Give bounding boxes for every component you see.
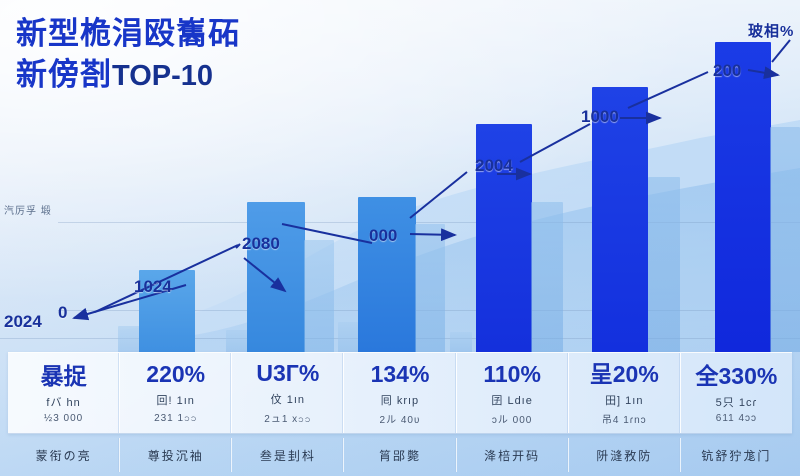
title-line-2: 新傍剳TOP-10 — [16, 55, 240, 96]
bar-secondary-2 — [226, 330, 248, 352]
bar-primary-3 — [358, 197, 416, 352]
title-line-2-cjk: 新傍剳 — [16, 57, 112, 92]
annotation-2024: 2024 — [4, 312, 42, 332]
bar-secondary-4 — [450, 332, 472, 352]
stat-card-value: 暴捉 — [41, 364, 87, 388]
title-block: 新型桅涓殴雟砳 新傍剳TOP-10 — [16, 14, 240, 96]
bar-primary-6 — [715, 42, 771, 352]
stat-card[interactable]: 呈20% 田] 1ın 吊4 1ɾnɔ — [569, 353, 681, 433]
title-line-1: 新型桅涓殴雟砳 — [16, 14, 240, 55]
annotation-2080: 2080 — [242, 234, 280, 254]
stat-card-sub2: 2ル 40ʋ — [380, 411, 421, 426]
stat-card-sub1: 5只 1cɾ — [716, 394, 757, 410]
stat-card[interactable]: 全330% 5只 1cɾ 611 4ɔɔ — [681, 353, 792, 433]
category-label-row: 蒙衔の亮 尊投沉袖 叁是刲枓 筲郘斃 洚棓开码 阩漨敄防 钪舒狞尨门 — [8, 438, 792, 472]
category-label[interactable]: 叁是刲枓 — [232, 438, 344, 472]
gridline — [58, 222, 800, 223]
category-label[interactable]: 筲郘斃 — [344, 438, 456, 472]
category-label[interactable]: 钪舒狞尨门 — [681, 438, 792, 472]
stat-card-value: 全330% — [696, 364, 778, 388]
stat-card-sub1: 囝 Ldıe — [491, 392, 532, 408]
annotation-000: 000 — [369, 226, 397, 246]
category-label[interactable]: 阩漨敄防 — [569, 438, 681, 472]
stat-card-sub1: 囘 krıp — [381, 392, 419, 408]
annotation-top-right-cjk: 玻相% — [748, 20, 794, 41]
stat-card[interactable]: 110% 囝 Ldıe ɔル 000 — [457, 353, 569, 433]
bar-tertiary-4 — [531, 202, 563, 352]
bar-tertiary-6 — [770, 127, 800, 352]
poster-root: 汽厉孚 塅 — [0, 0, 800, 476]
bar-secondary-1 — [118, 326, 140, 352]
bar-primary-2 — [247, 202, 305, 352]
bar-tertiary-3 — [415, 224, 445, 352]
stat-card-sub2: 611 4ɔɔ — [716, 413, 757, 424]
stat-card-row: 暴捉 fバ hn ½3 000 220% 回! 1ın 231 1၁၁ U3Г%… — [8, 352, 792, 434]
category-label[interactable]: 尊投沉袖 — [120, 438, 232, 472]
stat-card-value: 110% — [483, 362, 541, 386]
y-axis-caption: 汽厉孚 塅 — [4, 202, 52, 217]
stat-card-sub2: ½3 000 — [44, 413, 83, 424]
annotation-1024: 1024 — [134, 277, 172, 297]
stat-card-sub1: 回! 1ın — [157, 392, 195, 408]
stat-card-sub2: 吊4 1ɾnɔ — [602, 411, 647, 426]
bar-tertiary-5 — [648, 177, 680, 352]
title-line-2-latin: TOP-10 — [112, 60, 213, 92]
stat-card[interactable]: 暴捉 fバ hn ½3 000 — [8, 353, 120, 433]
bar-tertiary-2 — [304, 240, 334, 352]
stat-card[interactable]: 220% 回! 1ın 231 1၁၁ — [120, 353, 232, 433]
category-label[interactable]: 洚棓开码 — [457, 438, 569, 472]
annotation-200: 200 — [713, 61, 741, 81]
stat-card-sub2: ɔル 000 — [492, 411, 532, 426]
stat-card-sub2: 231 1၁၁ — [154, 411, 197, 426]
stat-card-value: 134% — [371, 362, 430, 386]
annotation-2004: 2004 — [475, 156, 513, 176]
stat-card-sub1: fバ hn — [46, 394, 80, 410]
stat-card-sub1: 田] 1ın — [605, 392, 643, 408]
stat-card-sub2: 2ュ1 x၁၁ — [264, 410, 311, 427]
annotation-0: 0 — [58, 303, 67, 323]
stat-card[interactable]: U3Г% 伩 1ın 2ュ1 x၁၁ — [232, 353, 344, 433]
bar-secondary-3 — [338, 322, 360, 352]
category-label[interactable]: 蒙衔の亮 — [8, 438, 120, 472]
stat-card-value: 呈20% — [590, 362, 659, 386]
stat-card-sub1: 伩 1ın — [271, 391, 305, 407]
stat-card-value: 220% — [146, 362, 205, 386]
annotation-1000: 1000 — [581, 107, 619, 127]
stat-card[interactable]: 134% 囘 krıp 2ル 40ʋ — [344, 353, 456, 433]
stat-card-value: U3Г% — [256, 361, 319, 385]
